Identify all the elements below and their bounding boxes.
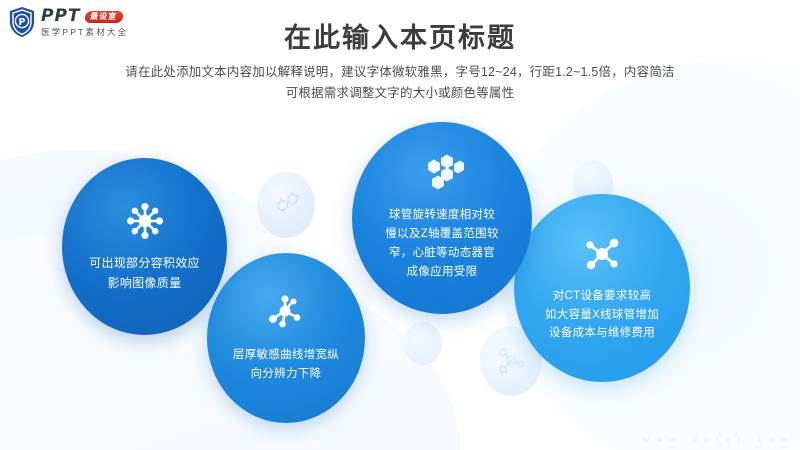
bubble-1-line-1: 可出现部分容积效应 [89, 254, 200, 274]
subtitle-line-2: 可根据需求调整文字的大小或颜色等属性 [0, 83, 800, 104]
bubble-3-line-1: 球管旋转速度相对较 [385, 206, 499, 225]
site-watermark: w w w . p p t e r . c o m [643, 435, 790, 444]
bubble-2[interactable]: 层厚敏感曲线增宽纵 向分辨力下降 [207, 253, 365, 423]
hexagon-cluster-icon [420, 154, 464, 199]
bubble-3-text: 球管旋转速度相对较 慢以及Z轴覆盖范围较 窄，心脏等动态器官 成像应用受限 [375, 206, 509, 282]
bubble-3[interactable]: 球管旋转速度相对较 慢以及Z轴覆盖范围较 窄，心脏等动态器官 成像应用受限 [352, 122, 532, 314]
benzene-ring-icon [269, 188, 303, 222]
decoration-plain-circle-bottom [404, 322, 442, 365]
bubble-4[interactable]: 对CT设备要求较高 如大容量X线球管增加 设备成本与维修费用 [514, 194, 690, 382]
bubble-4-line-2: 如大容量X线球管增加 [545, 306, 659, 325]
bubble-1-line-2: 影响图像质量 [89, 274, 200, 294]
bubble-2-line-2: 向分辨力下降 [233, 365, 339, 384]
bubble-3-line-4: 成像应用受限 [385, 263, 499, 282]
page-subtitle: 请在此处添加文本内容加以解释说明，建议字体微软雅黑，字号12~24，行距1.2~… [0, 62, 800, 103]
bubble-2-text: 层厚敏感曲线增宽纵 向分辨力下降 [223, 346, 349, 384]
molecule-node-icon [265, 292, 307, 339]
bubble-1-text: 可出现部分容积效应 影响图像质量 [79, 254, 210, 294]
bubble-4-text: 对CT设备要求较高 如大容量X线球管增加 设备成本与维修费用 [535, 287, 669, 344]
bubble-1[interactable]: 可出现部分容积效应 影响图像质量 [62, 158, 227, 335]
bubble-4-line-3: 设备成本与维修费用 [545, 324, 659, 343]
atom-molecule-icon [580, 233, 624, 280]
bubble-2-line-1: 层厚敏感曲线增宽纵 [233, 346, 339, 365]
molecule-outline-icon [492, 342, 530, 380]
page-title: 在此输入本页标题 [0, 16, 800, 55]
slide-canvas: P PPT 最设室 医学PPT素材大全 在此输入本页标题 请在此处添加文本内容加… [0, 0, 800, 450]
subtitle-line-1: 请在此处添加文本内容加以解释说明，建议字体微软雅黑，字号12~24，行距1.2~… [0, 62, 800, 83]
radial-molecule-icon [124, 200, 166, 247]
decoration-benzene-circle [257, 172, 315, 238]
bubble-3-line-3: 窄，心脏等动态器官 [385, 244, 499, 263]
bubble-4-line-1: 对CT设备要求较高 [545, 287, 659, 306]
bubble-3-line-2: 慢以及Z轴覆盖范围较 [385, 225, 499, 244]
